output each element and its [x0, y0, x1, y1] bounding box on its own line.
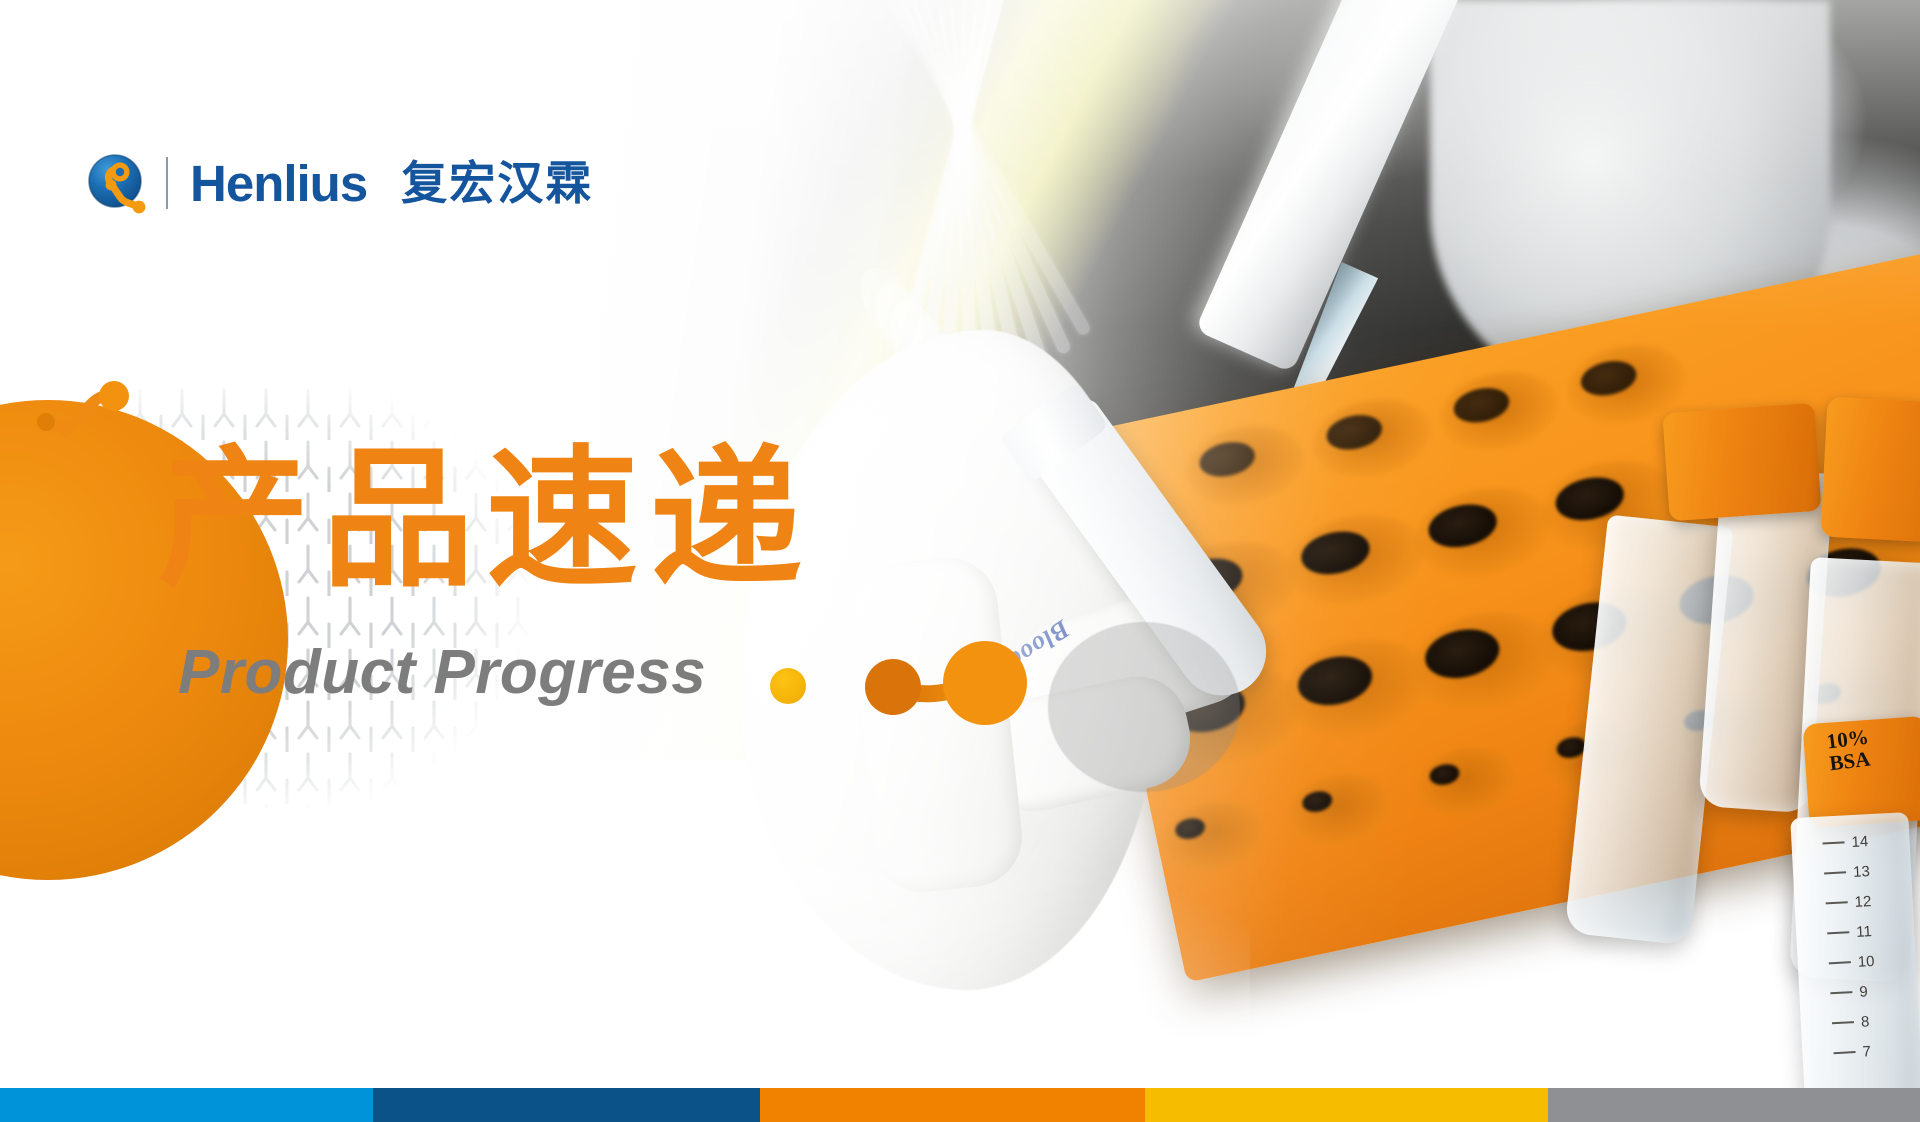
slide-root: 10% BSA 1413121110987 Blood: [0, 0, 1920, 1122]
bottom-bar-segment-gold: [1145, 1088, 1548, 1122]
bottom-bar-segment-light-blue: [0, 1088, 373, 1122]
yellow-dot-decoration: [770, 668, 806, 704]
molecule-icon-small: [30, 380, 140, 460]
logo-chinese-name: 复宏汉霖: [401, 160, 593, 206]
logo-divider: [166, 157, 168, 209]
bottom-bar-segment-grey: [1548, 1088, 1920, 1122]
henlius-logo[interactable]: Henlius 复宏汉霖: [86, 152, 593, 214]
bottom-color-bar: [0, 1088, 1920, 1122]
molecule-icon-large: [855, 638, 1035, 732]
grey-circle-overlay: [1048, 622, 1240, 792]
henlius-molecule-logo-icon: [86, 152, 148, 214]
bottom-bar-segment-dark-blue: [373, 1088, 760, 1122]
page-title-chinese: 产品速递: [158, 438, 814, 602]
page-subtitle-english: Product Progress: [178, 642, 706, 704]
logo-wordmark: Henlius: [190, 158, 367, 209]
bottom-bar-segment-orange: [760, 1088, 1145, 1122]
